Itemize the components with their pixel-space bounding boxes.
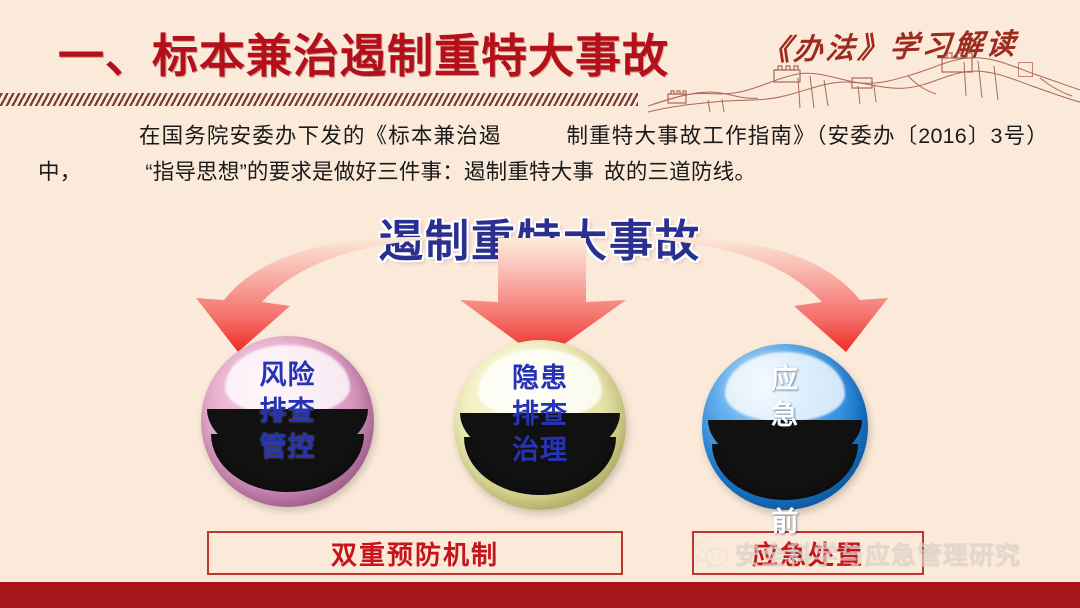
paragraph-seg-5: 故的三道防线。 [604,160,756,184]
label-box-dual-prevention[interactable]: 双重预防机制 [207,531,623,575]
sphere-emergency-overflow-text: 前 [702,500,868,539]
sphere-risk-label: 风险 排查 管控 [201,357,374,465]
paragraph-seg-2: 制重特大事故工作指南》（安委办〔 [566,124,919,148]
sphere-risk-line3: 管控 [201,429,374,465]
arrow-right-icon [632,237,888,352]
paragraph-seg-1: 在国务院安委办下发的《标本兼治遏 [138,124,502,148]
sphere-emergency-line2: 急 [702,397,868,433]
sphere-emergency-label: 应 急 [702,361,868,433]
sphere-hazard-line2: 排查 [454,396,626,432]
sphere-smile-shape [712,444,858,500]
slide-header: 一、标本兼治遏制重特大事故 《办法》学习解读 [0,0,1080,112]
sphere-hazard-label: 隐患 排查 治理 [454,360,626,468]
bottom-accent-bar [0,582,1080,608]
seal-stamp-icon [1018,62,1033,77]
body-paragraph: 在国务院安委办下发的《标本兼治遏制重特大事故工作指南》（安委办〔2016〕3号）… [38,118,1048,190]
arrow-left-icon [196,237,452,352]
sphere-risk-line2: 排查 [201,393,374,429]
hatched-divider-icon [0,93,638,106]
sphere-risk-line1: 风险 [201,357,374,393]
sphere-risk-control[interactable]: 风险 排查 管控 [201,336,374,507]
page-title: 一、标本兼治遏制重特大事故 [58,20,669,86]
sphere-emergency-response[interactable]: 应 急 [702,344,868,510]
great-wall-icon [648,52,1080,114]
sphere-hazard-line1: 隐患 [454,360,626,396]
sphere-hazard-governance[interactable]: 隐患 排查 治理 [454,340,626,510]
sphere-hazard-line3: 治理 [454,432,626,468]
slide-canvas: 一、标本兼治遏制重特大事故 《办法》学习解读 [0,0,1080,608]
paragraph-seg-4: “指导思想”的要求是做好三件事：遏制重特大事 [145,160,594,184]
sphere-emergency-line1: 应 [702,361,868,397]
